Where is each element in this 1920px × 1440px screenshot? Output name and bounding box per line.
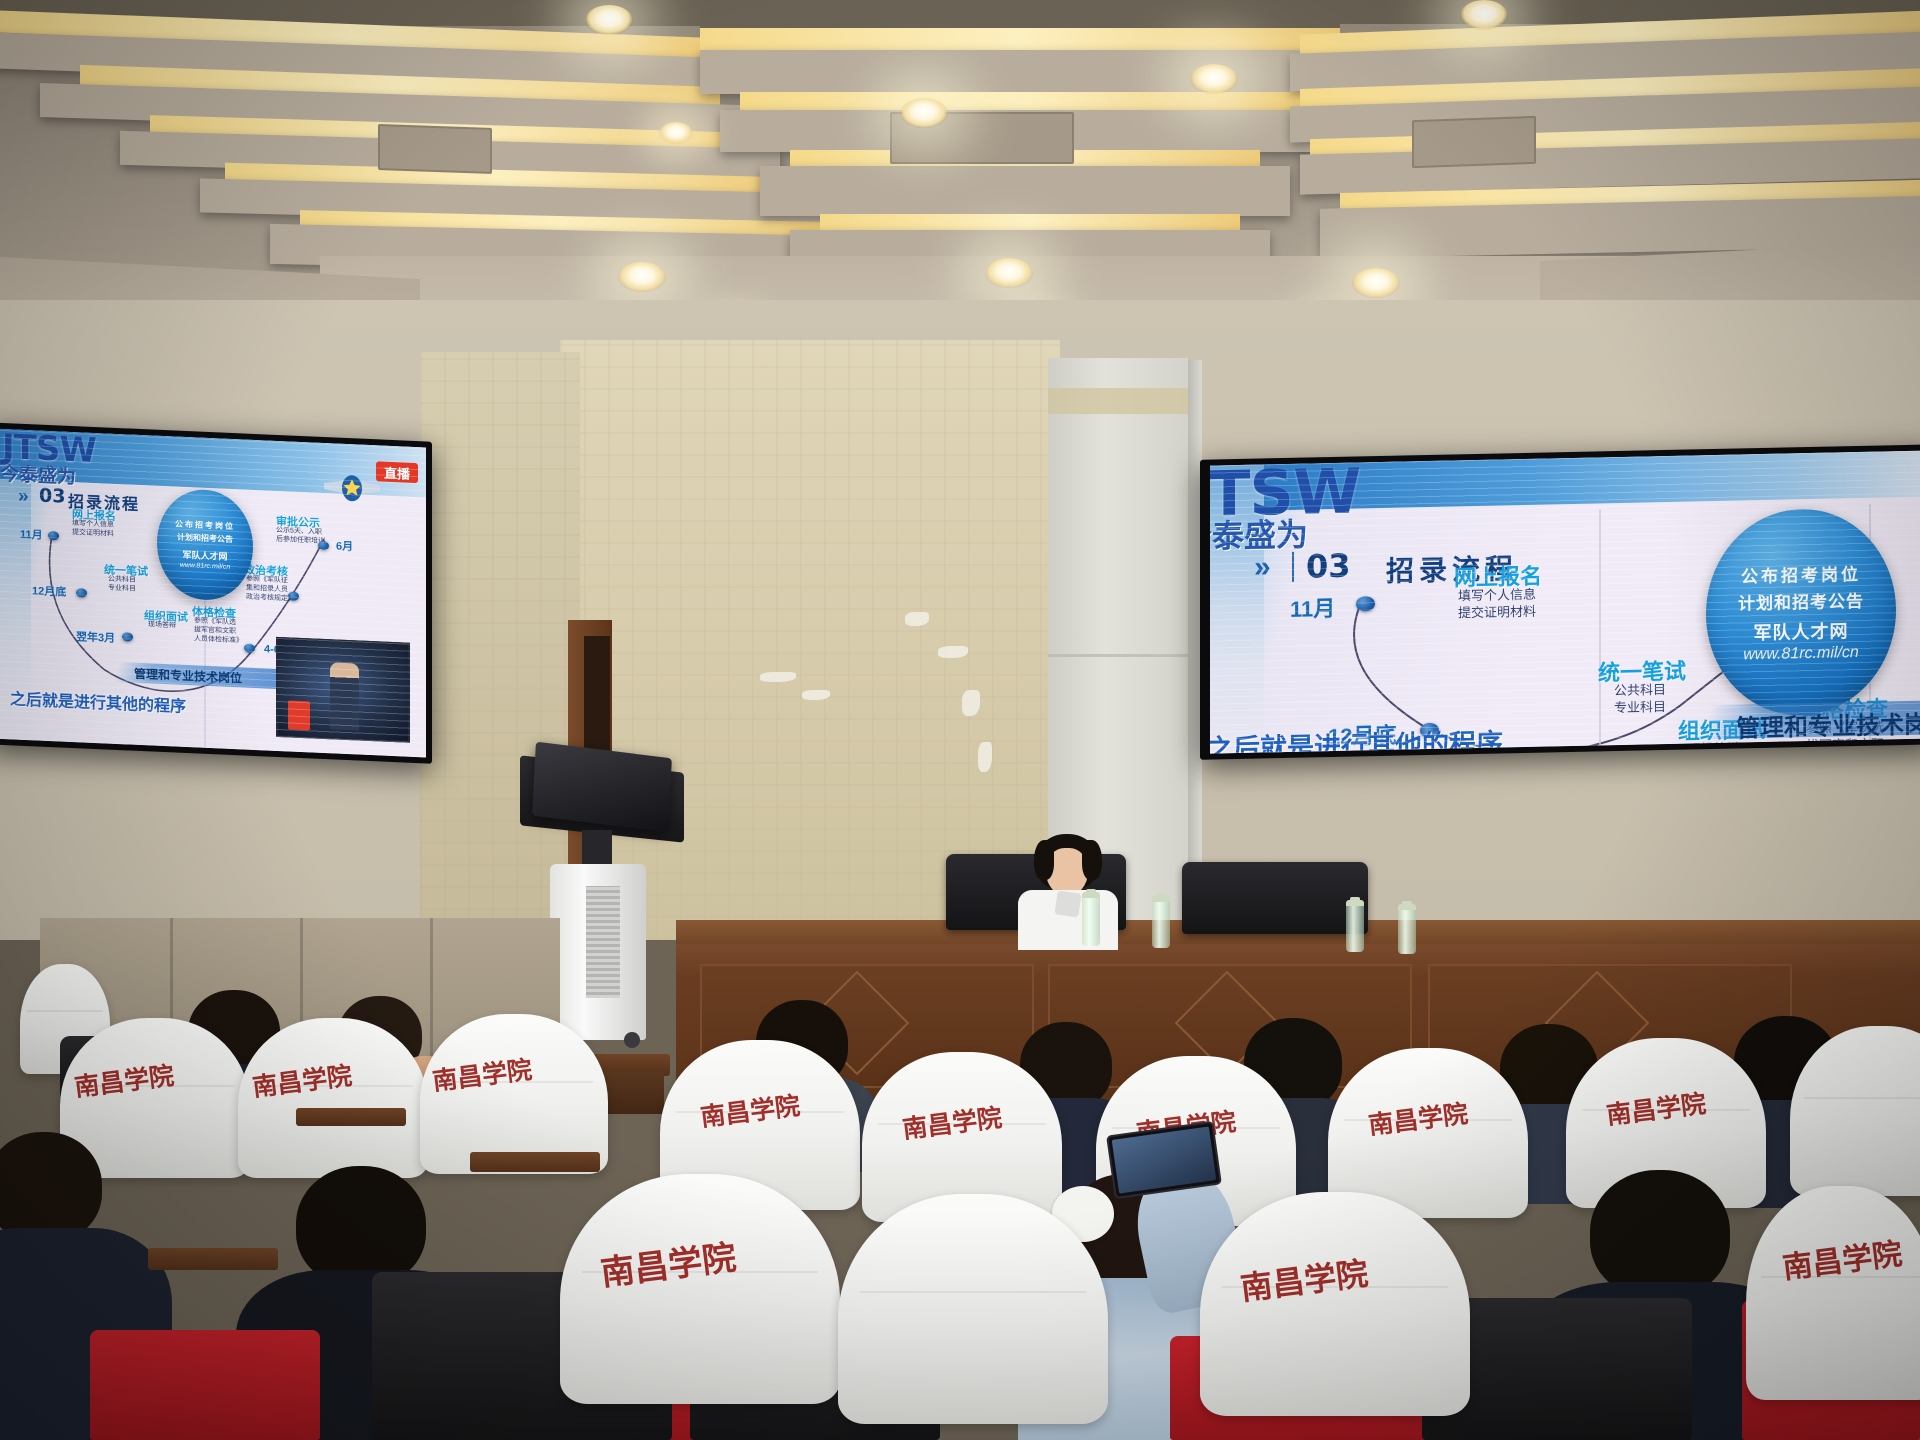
ceiling-light: [900, 98, 948, 128]
ceiling-light: [1352, 268, 1400, 298]
bubble-line-4: www.81rc.mil/cn: [1743, 644, 1859, 664]
water-bottle[interactable]: [1346, 900, 1364, 952]
ceiling-light: [1460, 0, 1508, 30]
writing-tablet[interactable]: [296, 1108, 406, 1126]
step-sub: 集和招录人员 政治考核规定》: [246, 585, 295, 605]
seat-cover[interactable]: [1746, 1186, 1920, 1400]
ceiling-light: [618, 262, 666, 292]
timeline-node: [48, 531, 59, 540]
ceiling-vent: [1412, 116, 1536, 168]
bubble-line-3: 军队人才网: [1754, 617, 1849, 645]
step-sub: 公共科目: [1614, 682, 1666, 699]
bubble-line-4: www.81rc.mil/cn: [180, 562, 231, 571]
water-bottle[interactable]: [1398, 904, 1416, 954]
bubble-line-2: 计划和招考公告: [177, 532, 233, 545]
speaker: [1010, 834, 1130, 944]
ceiling-light: [985, 258, 1033, 288]
bubble-line-3: 军队人才网: [182, 548, 227, 563]
wall-peel: [802, 690, 830, 700]
pip-video[interactable]: [276, 637, 410, 743]
timeline-month: 翌年3月: [76, 628, 115, 646]
lecture-hall-photo: JTSW 今泰盛为 » 03 招录流程 11月 12月底 翌年3月 4: [0, 0, 1920, 1440]
right-led-screen[interactable]: JTSW 今泰盛为 » 03 招录流程 11月 12月底 翌年3月 网上报名 填…: [1210, 450, 1920, 753]
writing-tablet[interactable]: [148, 1248, 278, 1270]
wall-peel: [962, 690, 980, 716]
timeline-month: 11月: [20, 526, 43, 543]
water-bottle[interactable]: [1082, 892, 1100, 946]
seat-base[interactable]: [90, 1330, 320, 1440]
timeline-month: 11月: [1290, 591, 1335, 624]
left-led-screen[interactable]: JTSW 今泰盛为 » 03 招录流程 11月 12月底 翌年3月 4: [0, 429, 426, 758]
ceiling-light: [1190, 64, 1238, 94]
wall-peel: [978, 742, 992, 772]
ceiling-light: [585, 5, 633, 35]
step-sub: 专业科目: [1614, 699, 1666, 716]
live-badge: 直播: [376, 461, 418, 483]
step-sub: 专业科目: [108, 585, 136, 595]
bubble-line-1: 公布招考岗位: [175, 519, 235, 533]
wall-peel: [905, 612, 929, 626]
army-emblem-icon: [322, 467, 382, 514]
bubble-line-2: 计划和招考公告: [1738, 587, 1864, 615]
ceiling-vent: [378, 124, 492, 174]
wall-peel: [760, 672, 796, 682]
writing-tablet[interactable]: [470, 1152, 600, 1172]
water-bottle[interactable]: [1152, 896, 1170, 948]
timeline-month: 12月底: [32, 582, 66, 599]
step-sub: 拔军官和文职 人员体检标准》: [194, 626, 243, 646]
timeline-month: 6月: [336, 538, 353, 555]
seat-cover[interactable]: [1200, 1192, 1470, 1416]
step-sub: 现场答辩: [148, 621, 176, 631]
step-sub: 提交证明材料: [1458, 604, 1536, 622]
ceiling-light: [659, 122, 693, 144]
seat-cover[interactable]: [838, 1194, 1108, 1424]
wall-peel: [938, 646, 968, 658]
timeline-node: [122, 632, 133, 641]
bubble-line-1: 公布招考岗位: [1741, 560, 1861, 588]
timeline-node: [244, 644, 255, 653]
timeline-node: [76, 588, 87, 597]
step-sub: 填写个人信息: [1458, 587, 1536, 605]
step-sub: 提交证明材料: [72, 529, 114, 540]
executive-chair[interactable]: [1182, 862, 1368, 934]
